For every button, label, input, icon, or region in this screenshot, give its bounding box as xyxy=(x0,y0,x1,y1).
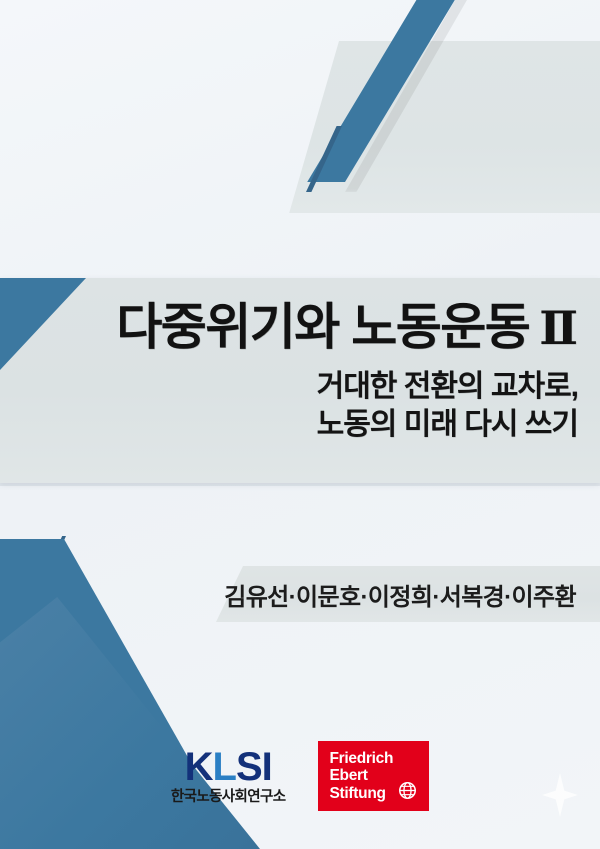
klsi-logo: KLSI 한국노동사회연구소 xyxy=(171,747,286,805)
klsi-letter-s: S xyxy=(236,745,262,789)
page-title: 다중위기와 노동운동Ⅱ xyxy=(116,302,578,352)
klsi-letter-i: I xyxy=(262,745,272,789)
logo-row: KLSI 한국노동사회연구소 Friedrich Ebert Stiftung xyxy=(0,741,600,812)
klsi-letter-k: K xyxy=(185,745,213,789)
title-block: 다중위기와 노동운동Ⅱ 거대한 전환의 교차로, 노동의 미래 다시 쓰기 xyxy=(0,278,600,483)
klsi-acronym: KLSI xyxy=(185,747,272,787)
page-subtitle: 거대한 전환의 교차로, 노동의 미래 다시 쓰기 xyxy=(317,368,578,445)
title-text: 다중위기와 노동운동 xyxy=(116,299,529,355)
fes-logo: Friedrich Ebert Stiftung xyxy=(318,741,430,812)
title-volume: Ⅱ xyxy=(539,303,578,354)
klsi-korean-name: 한국노동사회연구소 xyxy=(171,790,286,805)
klsi-letter-l: L xyxy=(213,745,236,789)
globe-icon xyxy=(398,781,417,800)
fes-name: Friedrich Ebert Stiftung xyxy=(330,750,394,803)
book-cover: 다중위기와 노동운동Ⅱ 거대한 전환의 교차로, 노동의 미래 다시 쓰기 김유… xyxy=(0,0,600,849)
